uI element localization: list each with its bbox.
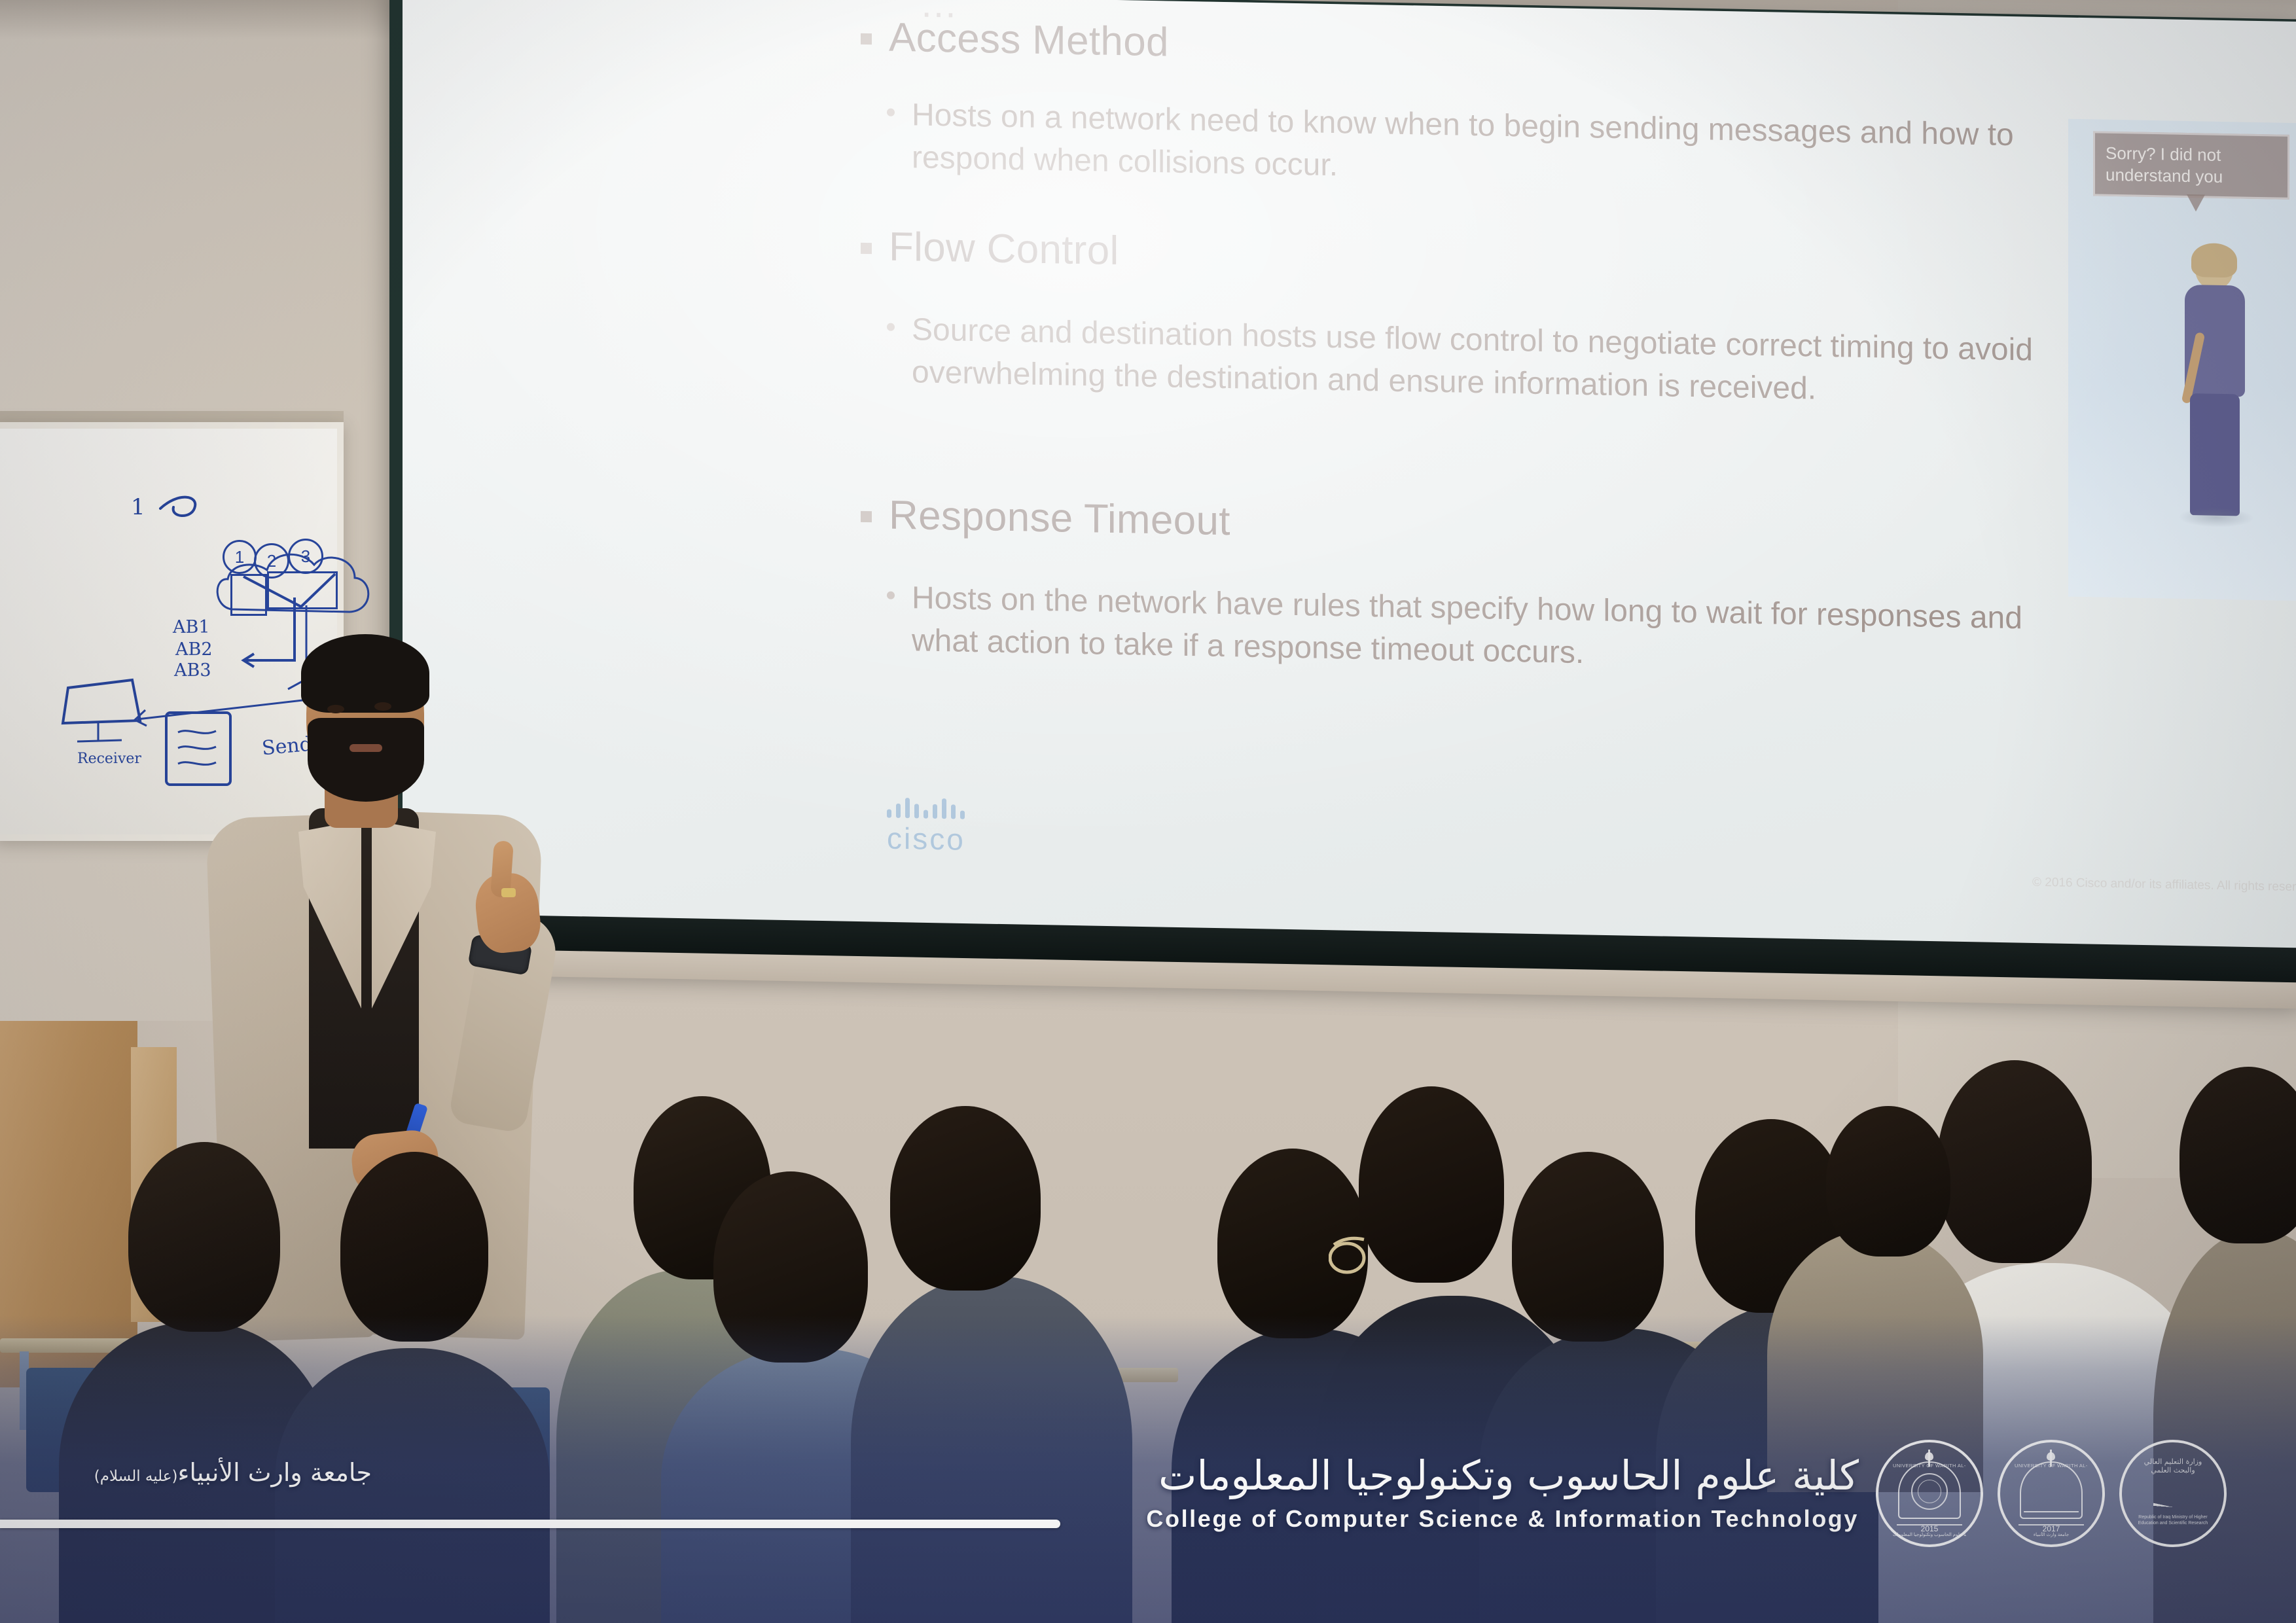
university-seal-arc-text: UNIVERSITY OF WARITH AL-ANBIYAA (2015, 1463, 2088, 1469)
slide-body-2-text: Source and destination hosts use flow co… (912, 309, 2037, 414)
slide-body-3-text: Hosts on the network have rules that spe… (912, 577, 2037, 683)
university-name-arabic: جامعة وارث الأنبياء(عليه السلام) (94, 1458, 372, 1487)
slide-heading-1-text: Access Method (889, 16, 1169, 65)
college-name-english: College of Computer Science & Informatio… (1100, 1505, 1859, 1533)
wood-cabinet (0, 1021, 137, 1387)
lecture-photo-stage: 1 1 2 3 AB1 AB2 AB3 (0, 0, 2296, 1623)
projector-screen: … Access Method Hosts on a network need … (403, 0, 2296, 957)
slide-copyright: © 2016 Cisco and/or its affiliates. All … (2032, 876, 2296, 897)
student-head-1 (128, 1142, 280, 1332)
cisco-bars-icon (887, 796, 965, 819)
slide-heading-1: Access Method (861, 15, 1169, 65)
seal-open-book-icon (2024, 1511, 2079, 1525)
ministry-seal-logo: وزارة التعليم العالي والبحث العلمي Repub… (2119, 1440, 2227, 1547)
footer-divider (0, 1520, 1060, 1528)
slide-body-2: Source and destination hosts use flow co… (887, 309, 2037, 415)
slide: … Access Method Hosts on a network need … (403, 0, 2296, 957)
student-head-12 (1826, 1106, 1950, 1257)
college-seal-art: UNIVERSITY OF WARITH AL-ANBIYAA 2015 كلي… (1893, 1451, 1966, 1536)
student-head-4 (713, 1171, 868, 1363)
cisco-logo: cisco (887, 796, 965, 857)
university-seal-logo: UNIVERSITY OF WARITH AL-ANBIYAA 2017 جام… (1998, 1440, 2105, 1547)
slide-body-1: Hosts on a network need to know when to … (887, 94, 2037, 200)
whiteboard-label-ab1: AB1 (173, 617, 210, 637)
ministry-seal-arabic-text: وزارة التعليم العالي والبحث العلمي (2136, 1457, 2210, 1474)
student-body-5 (851, 1276, 1132, 1623)
university-seal-caption: جامعة وارث الأنبياء (2015, 1532, 2088, 1537)
ministry-fan-icon (2153, 1478, 2193, 1507)
slide-body-3: Hosts on the network have rules that spe… (887, 577, 2037, 683)
whiteboard-label-ab2: AB2 (175, 639, 213, 660)
whiteboard-top-mark: 1 (131, 494, 145, 520)
slide-heading-2: Flow Control (861, 224, 1119, 274)
slide-heading-3-text: Response Timeout (889, 493, 1230, 544)
presenter-eye-right (374, 702, 391, 711)
dot-bullet-icon (887, 323, 895, 331)
slide-heading-3: Response Timeout (861, 493, 1230, 544)
presenter-ring-upper (501, 888, 516, 897)
whiteboard-label-receiver: Receiver (77, 751, 141, 767)
illustration-person-left (2173, 245, 2258, 535)
cisco-wordmark: cisco (887, 821, 965, 857)
college-seal-logo: UNIVERSITY OF WARITH AL-ANBIYAA 2015 كلي… (1876, 1440, 1983, 1547)
dot-bullet-icon (887, 109, 895, 116)
speech-bubble-left: Sorry? I did not understand you (2093, 131, 2289, 199)
student-head-10 (1937, 1060, 2092, 1263)
seal-inner-ring-icon (1918, 1480, 1941, 1503)
presenter-mouth (350, 744, 382, 752)
whiteboard-label-ab3: AB3 (174, 660, 211, 681)
college-seal-caption: كلية علوم الحاسوب وتكنولوجيا المعلومات (1893, 1532, 1966, 1537)
square-bullet-icon (861, 33, 872, 45)
ministry-seal-english-text: Republic of Iraq Ministry of Higher Educ… (2131, 1515, 2215, 1527)
glasses-icon (1329, 1230, 1407, 1276)
university-name-arabic-text: جامعة وارث الأنبياء (177, 1458, 372, 1487)
university-seal-art: UNIVERSITY OF WARITH AL-ANBIYAA 2017 جام… (2015, 1451, 2088, 1536)
presenter-eye-left (327, 705, 344, 713)
presenter-hair (301, 634, 429, 713)
university-name-honorific: (عليه السلام) (94, 1468, 178, 1485)
seal-dome-icon (2020, 1461, 2083, 1519)
slide-illustration: Sorry? I did not understand you Sorry? I… (2068, 119, 2296, 605)
whiteboard-arrow-squiggle (154, 489, 232, 528)
student-head-8 (1512, 1152, 1664, 1342)
slide-heading-2-text: Flow Control (889, 225, 1119, 274)
student-head-5 (890, 1106, 1041, 1291)
presenter-beard (308, 718, 424, 802)
ministry-seal-art: وزارة التعليم العالي والبحث العلمي Repub… (2136, 1451, 2210, 1536)
dot-bullet-icon (887, 592, 895, 599)
college-name-arabic: كلية علوم الحاسوب وتكنولوجيا المعلومات (1100, 1452, 1859, 1499)
slide-body-1-text: Hosts on a network need to know when to … (912, 94, 2037, 200)
square-bullet-icon (861, 511, 872, 522)
square-bullet-icon (861, 243, 872, 254)
student-head-2 (340, 1152, 488, 1342)
college-seal-arc-text: UNIVERSITY OF WARITH AL-ANBIYAA (1893, 1463, 1966, 1469)
